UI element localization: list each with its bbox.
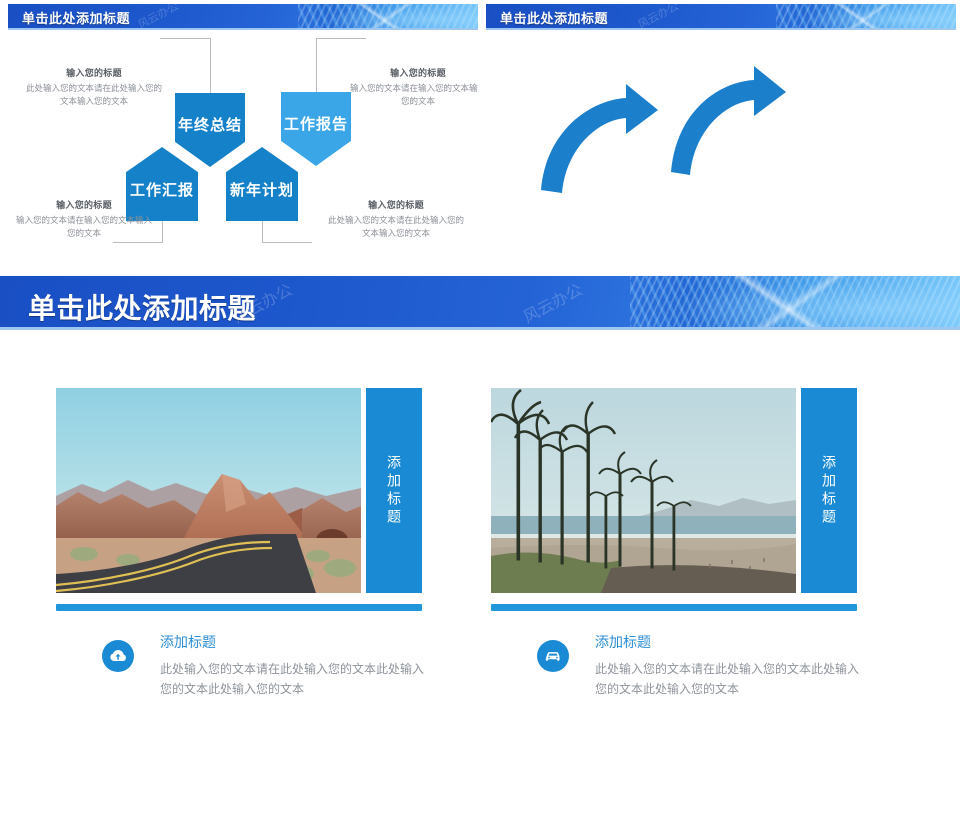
desert-road-photo <box>56 388 361 593</box>
slide-2: 风云办公 单击此处添加标题 添加标题 根据需要添加适当的文字，一 页的文字最好不… <box>486 4 956 268</box>
callout-title: 输入您的标题 <box>348 66 478 79</box>
shape-year-end-summary[interactable]: 年终总结 <box>175 93 245 167</box>
shape-label: 新年计划 <box>230 179 294 200</box>
connector-line-bottom-left-h <box>113 242 163 243</box>
side-tab-label: 添加标题 <box>384 455 404 527</box>
tech-decoration-image <box>298 4 478 30</box>
photo-card-left: 添加标题 添加标题 此处输入您的文本请在此处输入您的文本此处输入您的文本此处输入… <box>56 388 422 718</box>
info-text-right: 添加标题 此处输入您的文本请在此处输入您的文本此处输入您的文本此处输入您的文本 <box>595 632 863 700</box>
slide-3-title: 单击此处添加标题 <box>28 287 256 327</box>
info-block-left: 添加标题 此处输入您的文本请在此处输入您的文本此处输入您的文本此处输入您的文本 <box>56 632 436 700</box>
title-underline <box>0 327 960 330</box>
side-tab-right[interactable]: 添加标题 <box>801 388 857 593</box>
info-heading: 添加标题 <box>160 632 428 652</box>
car-icon <box>537 640 569 672</box>
callout-top-right: 输入您的标题 输入您的文本请在输入您的文本输入您的文本 <box>348 66 478 108</box>
slide-1-diagram: 年终总结 工作报告 工作汇报 新年计划 输入您的标题 此处输入您的文本请在此处输… <box>8 30 478 268</box>
slide-3: 风云办公 风云办公 单击此处添加标题 <box>0 276 960 816</box>
connector-line-top-right <box>316 38 317 93</box>
tech-decoration-image <box>630 276 960 330</box>
info-text-left: 添加标题 此处输入您的文本请在此处输入您的文本此处输入您的文本此处输入您的文本 <box>160 632 428 700</box>
shape-label: 工作汇报 <box>130 179 194 200</box>
slide-2-title: 单击此处添加标题 <box>500 8 608 27</box>
curved-arrow-1 <box>541 84 658 193</box>
shape-label: 工作报告 <box>284 113 348 134</box>
callout-body: 此处输入您的文本请在此处输入您的文本输入您的文本 <box>24 82 164 108</box>
shape-work-report[interactable]: 工作报告 <box>281 92 351 166</box>
connector-line-top-left-h <box>160 38 211 39</box>
shape-new-year-plan[interactable]: 新年计划 <box>226 147 298 221</box>
divider-bar-right <box>491 604 857 611</box>
slide-1-title-bar: 风云办公 单击此处添加标题 <box>8 4 478 30</box>
tech-decoration-image <box>776 4 956 30</box>
callout-body: 输入您的文本请在输入您的文本输入您的文本 <box>14 214 154 240</box>
photo-card-right: 添加标题 添加标题 此处输入您的文本请在此处输入您的文本此处输入您的文本此处输入… <box>491 388 857 718</box>
cloud-upload-icon <box>102 640 134 672</box>
connector-line-bottom-right-h <box>262 242 312 243</box>
side-tab-label: 添加标题 <box>819 455 839 527</box>
shape-label: 年终总结 <box>178 114 242 135</box>
watermark: 风云办公 <box>135 4 181 30</box>
palm-beach-photo <box>491 388 796 593</box>
info-body: 此处输入您的文本请在此处输入您的文本此处输入您的文本此处输入您的文本 <box>160 660 428 700</box>
side-tab-left[interactable]: 添加标题 <box>366 388 422 593</box>
callout-body: 输入您的文本请在输入您的文本输入您的文本 <box>348 82 478 108</box>
info-body: 此处输入您的文本请在此处输入您的文本此处输入您的文本此处输入您的文本 <box>595 660 863 700</box>
watermark: 风云办公 <box>518 276 586 327</box>
curved-arrow-2 <box>671 66 786 175</box>
callout-bottom-left: 输入您的标题 输入您的文本请在输入您的文本输入您的文本 <box>14 198 154 240</box>
slide-2-arrows <box>486 30 956 268</box>
callout-body: 此处输入您的文本请在此处输入您的文本输入您的文本 <box>326 214 466 240</box>
screenshot-page: 风云办公 单击此处添加标题 年终总结 工作报告 工作汇报 <box>0 0 960 816</box>
slide-2-title-bar: 风云办公 单击此处添加标题 <box>486 4 956 30</box>
callout-title: 输入您的标题 <box>24 66 164 79</box>
info-heading: 添加标题 <box>595 632 863 652</box>
title-underline <box>486 28 956 30</box>
callout-top-left: 输入您的标题 此处输入您的文本请在此处输入您的文本输入您的文本 <box>24 66 164 108</box>
divider-bar-left <box>56 604 422 611</box>
callout-title: 输入您的标题 <box>326 198 466 211</box>
slide-1-title: 单击此处添加标题 <box>22 8 130 27</box>
connector-line-top-left <box>210 38 211 94</box>
callout-title: 输入您的标题 <box>14 198 154 211</box>
callout-bottom-right: 输入您的标题 此处输入您的文本请在此处输入您的文本输入您的文本 <box>326 198 466 240</box>
watermark: 风云办公 <box>635 4 681 30</box>
slide-3-title-bar: 风云办公 风云办公 单击此处添加标题 <box>0 276 960 330</box>
info-block-right: 添加标题 此处输入您的文本请在此处输入您的文本此处输入您的文本此处输入您的文本 <box>491 632 871 700</box>
slide-1: 风云办公 单击此处添加标题 年终总结 工作报告 工作汇报 <box>8 4 478 268</box>
connector-line-top-right-h <box>316 38 366 39</box>
